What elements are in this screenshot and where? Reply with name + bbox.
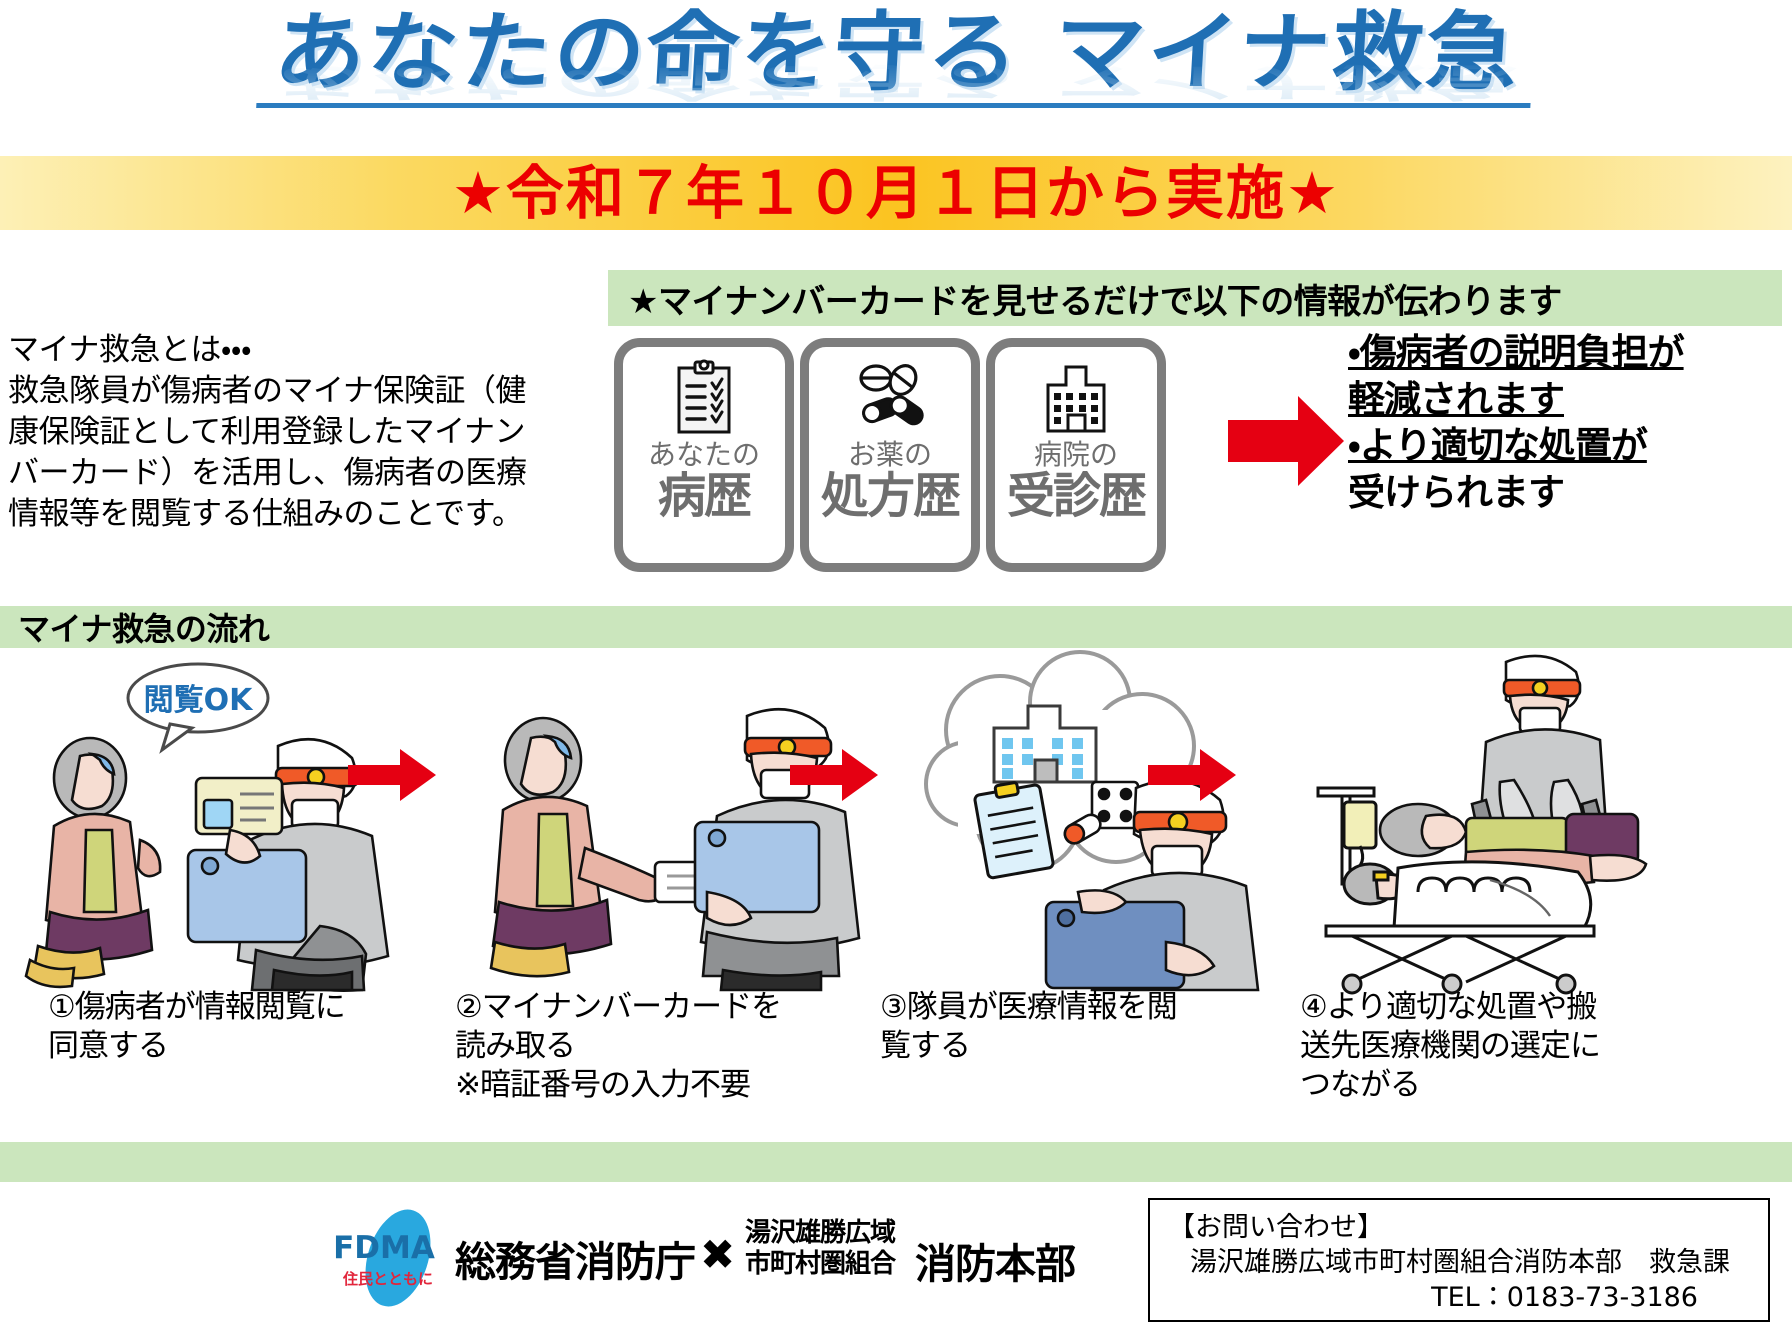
- flow-arrow-3-icon: [1148, 745, 1238, 805]
- page-title: あなたの命を守る マイナ救急: [256, 8, 1536, 108]
- step-3-caption: ③隊員が医療情報を閲 覧する: [880, 988, 1240, 1066]
- benefit-text: ・より適切な処置が: [1348, 424, 1647, 467]
- step-1-caption-line-1: ①傷病者が情報閲覧に: [48, 988, 418, 1027]
- step-4-caption-line-1: ④より適切な処置や搬: [1300, 988, 1720, 1027]
- info-card-main-label: 処方歴: [821, 471, 959, 521]
- benefit-item-2-line-1: ・より適切な処置が: [1348, 423, 1792, 470]
- step-4-caption: ④より適切な処置や搬 送先医療機関の選定に つながる: [1300, 988, 1720, 1104]
- description-line-2: 救急隊員が傷病者のマイナ保険証（健: [8, 371, 588, 412]
- flow-step-4: ④より適切な処置や搬 送先医療機関の選定に つながる: [1290, 650, 1690, 1142]
- step-3-caption-line-1: ③隊員が医療情報を閲: [880, 988, 1240, 1027]
- speech-bubble-text: 閲覧OK: [144, 683, 255, 718]
- info-card-sub-label: あなたの: [648, 441, 760, 469]
- description-line-1: マイナ救急とは・・・: [8, 330, 588, 371]
- contact-tel: TEL：0183-73-3186: [1168, 1280, 1754, 1315]
- flow-section-header-label: マイナ救急の流れ: [18, 604, 269, 650]
- info-card-visit-history: 病院の 受診歴: [986, 338, 1166, 572]
- description-line-5: 情報等を閲覧する仕組みのことです。: [8, 494, 588, 535]
- info-card-sub-label: 病院の: [1034, 441, 1118, 469]
- flow-step-1: 閲覧OK: [20, 650, 420, 1142]
- fdma-logo-text: FDMA: [333, 1230, 435, 1266]
- hospital-icon: [1038, 355, 1114, 439]
- flow-arrow-2-icon: [790, 745, 880, 805]
- benefit-item-1-line-1: ・傷病者の説明負担が: [1348, 330, 1792, 377]
- step-4-caption-line-3: つながる: [1300, 1066, 1720, 1105]
- flow-step-3: ③隊員が医療情報を閲 覧する: [880, 650, 1280, 1142]
- step-3-illustration: [880, 650, 1280, 990]
- poster-page: あなたの命を守る マイナ救急 あなたの命を守る マイナ救急 ★令和７年１０月１日…: [0, 0, 1792, 1344]
- benefit-item-2-line-2: 受けられます: [1348, 470, 1792, 517]
- flow-step-2: ②マイナンバーカードを 読み取る ※暗証番号の入力不要: [455, 650, 855, 1142]
- info-card-medical-history: あなたの 病歴: [614, 338, 794, 572]
- flow-section-bottom-band: [0, 1142, 1792, 1182]
- step-2-caption-line-3: ※暗証番号の入力不要: [455, 1066, 855, 1105]
- org-local-label: 湯沢雄勝広域 市町村圏組合: [745, 1218, 895, 1279]
- start-date-banner: ★令和７年１０月１日から実施★: [0, 156, 1792, 230]
- flow-step-group: 閲覧OK: [0, 650, 1792, 1142]
- flow-section-header: マイナ救急の流れ: [0, 606, 1792, 648]
- info-card-main-label: 病歴: [658, 471, 750, 521]
- contact-org: 湯沢雄勝広域市町村圏組合消防本部 救急課: [1168, 1245, 1754, 1280]
- info-section-header: ★マイナンバーカードを見せるだけで以下の情報が伝わります: [608, 270, 1782, 326]
- step-2-caption-line-2: 読み取る: [455, 1027, 855, 1066]
- info-section-header-label: ★マイナンバーカードを見せるだけで以下の情報が伝わります: [628, 274, 1562, 323]
- step-3-caption-line-2: 覧する: [880, 1027, 1240, 1066]
- pills-icon: [851, 355, 929, 439]
- benefit-text: 受けられます: [1348, 471, 1564, 514]
- start-date-text: ★令和７年１０月１日から実施★: [452, 164, 1340, 222]
- fdma-logo-tagline: 住民とともに: [342, 1270, 433, 1288]
- poster-title-block: あなたの命を守る マイナ救急 あなたの命を守る マイナ救急: [0, 8, 1792, 156]
- org-local-line-1: 湯沢雄勝広域: [745, 1218, 895, 1249]
- footer: FDMA 住民とともに 総務省消防庁 ✖ 湯沢雄勝広域 市町村圏組合 消防本部 …: [0, 1190, 1792, 1344]
- contact-heading: 【お問い合わせ】: [1168, 1210, 1754, 1245]
- info-card-prescription-history: お薬の 処方歴: [800, 338, 980, 572]
- clipboard-icon: [673, 355, 735, 439]
- org-fdma-label: 総務省消防庁: [455, 1228, 695, 1288]
- step-2-caption-line-1: ②マイナンバーカードを: [455, 988, 855, 1027]
- step-2-caption: ②マイナンバーカードを 読み取る ※暗証番号の入力不要: [455, 988, 855, 1104]
- step-4-illustration: [1290, 650, 1690, 990]
- benefit-arrow-icon: [1228, 392, 1346, 490]
- step-1-illustration: 閲覧OK: [20, 650, 420, 990]
- contact-box: 【お問い合わせ】 湯沢雄勝広域市町村圏組合消防本部 救急課 TEL：0183-7…: [1148, 1198, 1770, 1322]
- flow-arrow-1-icon: [348, 745, 438, 805]
- info-card-group: あなたの 病歴: [614, 338, 1174, 576]
- step-1-caption-line-2: 同意する: [48, 1027, 418, 1066]
- step-4-caption-line-2: 送先医療機関の選定に: [1300, 1027, 1720, 1066]
- benefit-text: 軽減されます: [1348, 378, 1564, 421]
- description-line-4: バーカード）を活用し、傷病者の医療: [8, 453, 588, 494]
- info-card-sub-label: お薬の: [848, 441, 932, 469]
- description-block: マイナ救急とは・・・ 救急隊員が傷病者のマイナ保険証（健 康保険証として利用登録…: [8, 330, 588, 535]
- cross-icon: ✖: [700, 1230, 735, 1279]
- benefit-text: ・傷病者の説明負担が: [1348, 331, 1684, 374]
- step-2-illustration: [455, 650, 855, 990]
- description-line-3: 康保険証として利用登録したマイナン: [8, 412, 588, 453]
- org-local-suffix-label: 消防本部: [915, 1230, 1075, 1290]
- benefit-item-1-line-2: 軽減されます: [1348, 377, 1792, 424]
- step-1-caption: ①傷病者が情報閲覧に 同意する: [48, 988, 418, 1066]
- fdma-logo: FDMA 住民とともに: [340, 1204, 450, 1314]
- info-card-main-label: 受診歴: [1007, 471, 1145, 521]
- benefit-list: ・傷病者の説明負担が 軽減されます ・より適切な処置が 受けられます: [1348, 330, 1792, 516]
- org-local-line-2: 市町村圏組合: [745, 1249, 895, 1280]
